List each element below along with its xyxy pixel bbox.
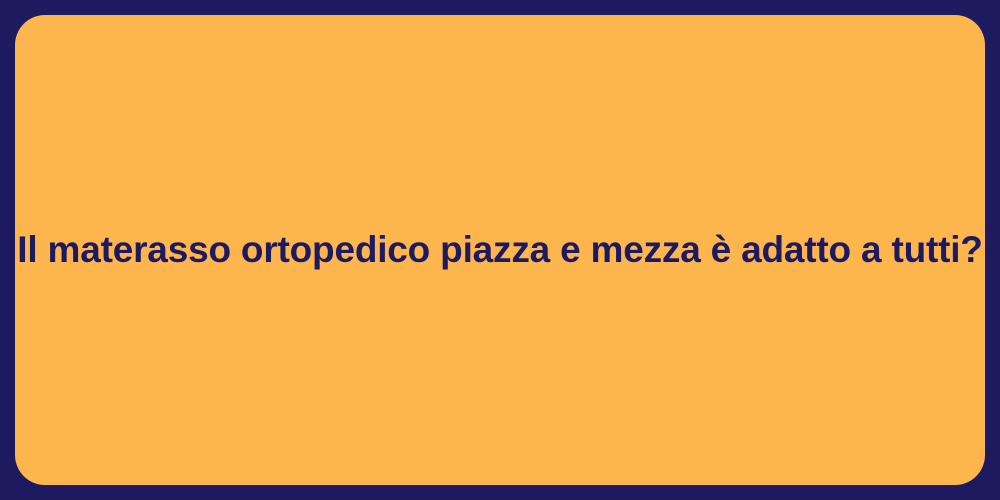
banner-card: Il materasso ortopedico piazza e mezza è… [15, 15, 985, 485]
headline-text: Il materasso ortopedico piazza e mezza è… [17, 227, 982, 273]
banner-frame: Il materasso ortopedico piazza e mezza è… [0, 0, 1000, 500]
